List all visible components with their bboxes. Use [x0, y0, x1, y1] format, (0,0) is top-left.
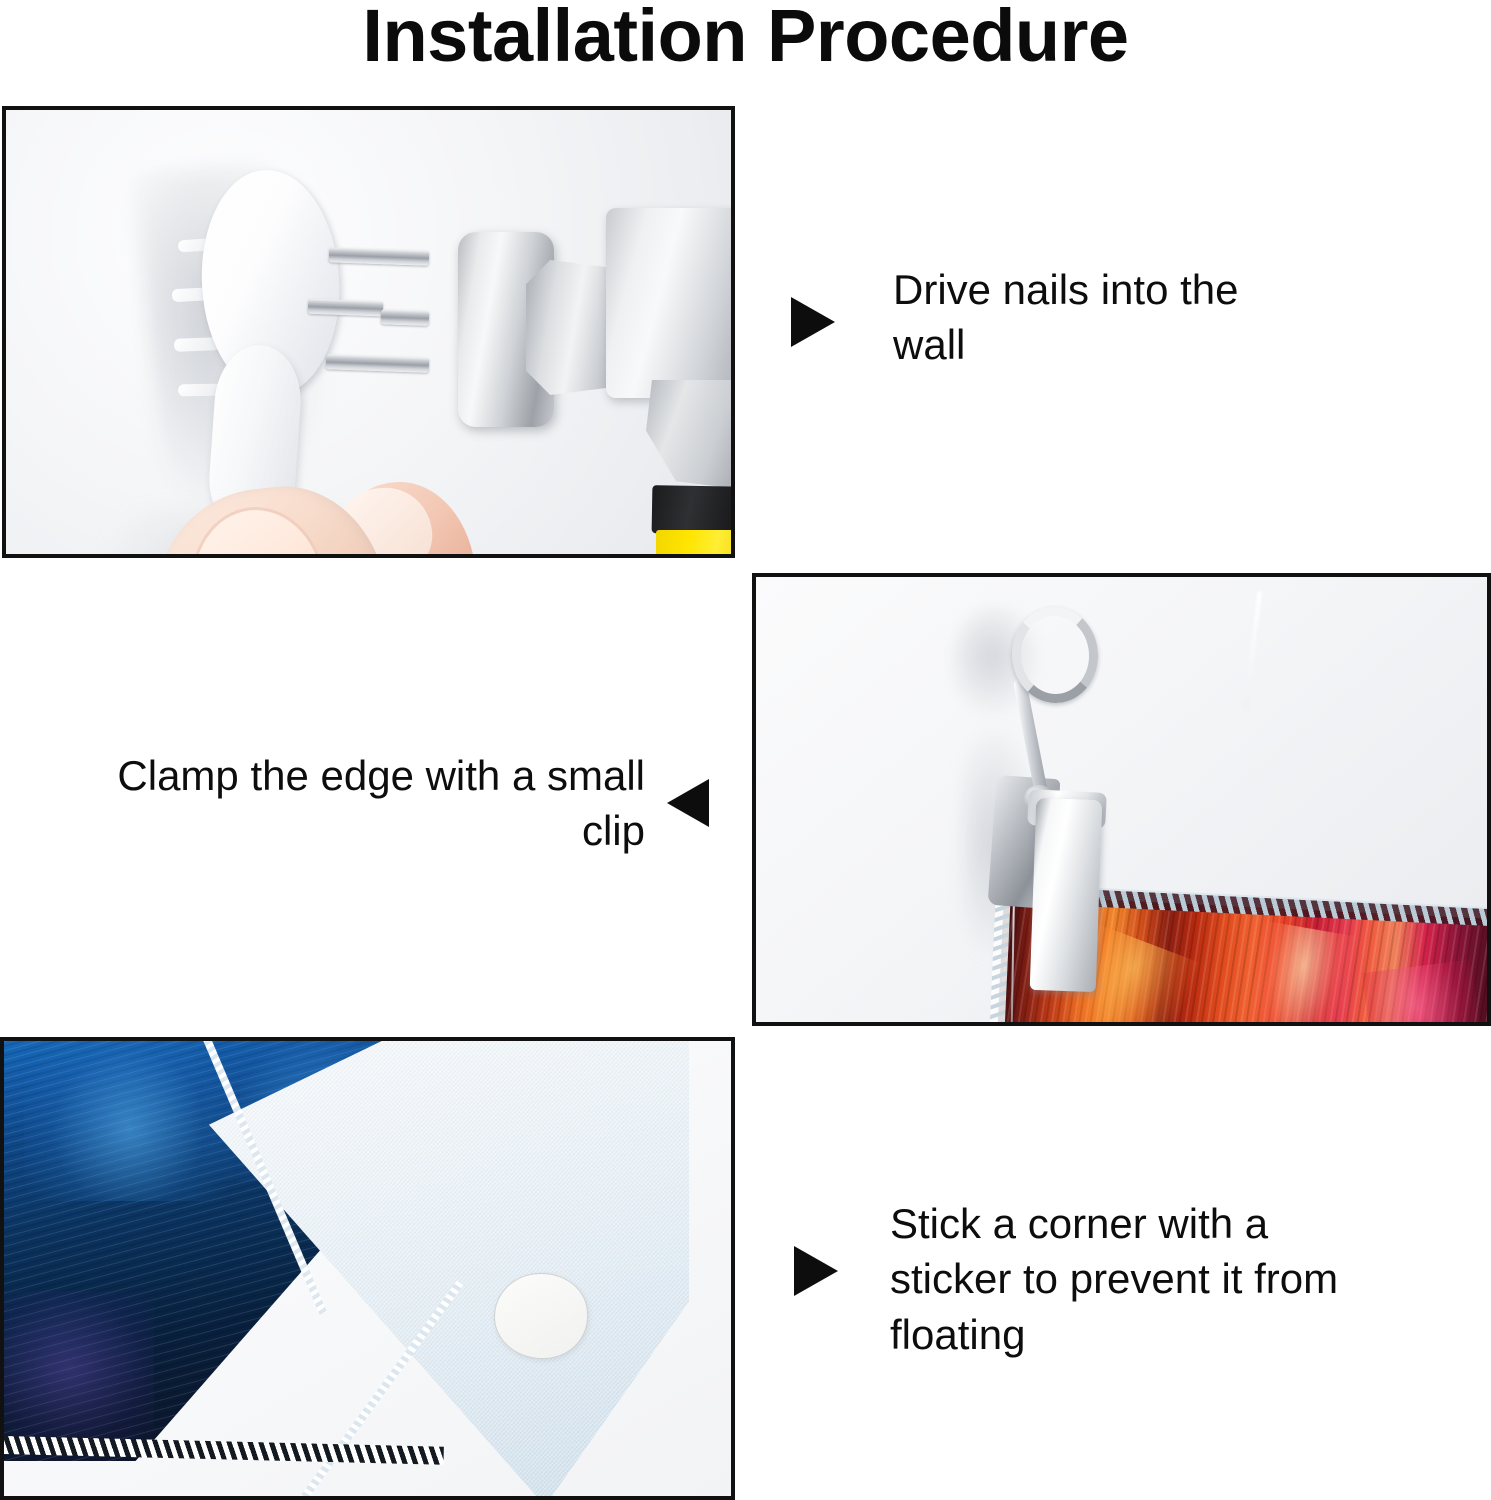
step-1-caption: Drive nails into the wall [893, 262, 1313, 373]
nail-icon [308, 299, 383, 317]
nail-icon [381, 309, 429, 326]
arrow-left-icon [667, 779, 709, 827]
step-1-image [2, 106, 735, 558]
hammer-ferrule [652, 485, 735, 535]
arrow-right-icon [791, 297, 835, 347]
hammer-head [606, 208, 735, 398]
tapestry-highlight [24, 1041, 234, 1201]
arrow-right-icon [794, 1246, 838, 1296]
page-title: Installation Procedure [0, 0, 1491, 76]
installation-procedure-page: Installation Procedure Drive nails into … [0, 0, 1491, 1500]
clip-front-jaw [1030, 798, 1103, 992]
step-2-image [752, 573, 1491, 1026]
step-2-caption: Clamp the edge with a small clip [60, 748, 645, 859]
wall-sticker [494, 1273, 588, 1359]
step-3-caption: Stick a corner with a sticker to prevent… [890, 1196, 1360, 1362]
tapestry-highlight [4, 1291, 154, 1461]
hammer-handle [656, 530, 735, 558]
step-3-image [0, 1037, 735, 1500]
